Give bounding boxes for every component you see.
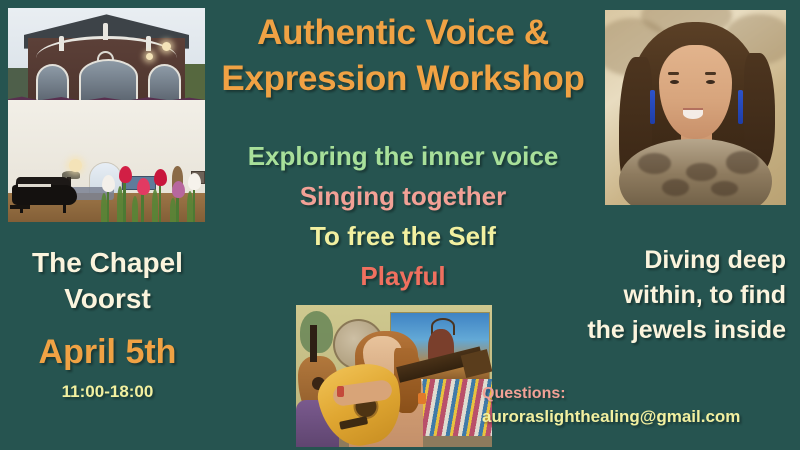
chapel-finial	[146, 36, 151, 51]
facilitator-portrait-photo	[605, 10, 786, 205]
chapel-right-window	[148, 64, 182, 104]
tulip-flowers	[95, 171, 205, 222]
subtitle-singing: Singing together	[208, 176, 598, 216]
grand-piano-leg	[63, 204, 66, 214]
tagline-line-1: Diving deep	[496, 243, 786, 278]
contact-label: Questions:	[482, 383, 782, 405]
contact-email[interactable]: auroraslighthealing@gmail.com	[482, 405, 782, 429]
title-line-2: Expression Workshop	[208, 56, 598, 102]
event-date: April 5th	[0, 327, 215, 377]
wall-guitar-neck	[310, 325, 317, 362]
portrait-smile	[683, 108, 703, 119]
guitarist-wristband	[418, 393, 426, 404]
chapel-finial	[103, 23, 108, 40]
blue-beaded-earring-right	[738, 90, 743, 124]
chapel-finial	[59, 36, 64, 51]
piano-bench	[10, 205, 30, 209]
portrait-eyebrow-left	[668, 72, 679, 75]
guitar-bridge	[339, 416, 368, 430]
tagline-line-2: within, to find	[496, 278, 786, 313]
workshop-poster: Authentic Voice & Expression Workshop Ex…	[0, 0, 800, 450]
tagline: Diving deep within, to find the jewels i…	[496, 243, 786, 348]
portrait-eyebrow-right	[705, 72, 716, 75]
venue-name-line-2: Voorst	[0, 281, 215, 317]
chapel-light-orb	[162, 42, 171, 51]
chapel-interior	[8, 100, 205, 222]
interior-pendant-lamp	[69, 159, 82, 172]
chapel-main-window	[79, 59, 138, 104]
grand-piano-body	[12, 185, 77, 205]
venue-name-line-1: The Chapel	[0, 245, 215, 281]
chapel-light-orb	[146, 53, 153, 60]
poster-title: Authentic Voice & Expression Workshop	[208, 10, 598, 102]
grand-piano-keys	[18, 184, 51, 188]
chapel-exterior-and-interior-photo	[8, 8, 205, 222]
event-time: 11:00-18:00	[0, 379, 215, 405]
venue-details: The Chapel Voorst April 5th 11:00-18:00	[0, 245, 215, 405]
title-line-1: Authentic Voice &	[208, 10, 598, 56]
guitarist-bracelet	[337, 386, 344, 397]
blue-beaded-earring-left	[650, 90, 655, 124]
subtitle-exploring: Exploring the inner voice	[208, 136, 598, 176]
tagline-line-3: the jewels inside	[496, 313, 786, 348]
chapel-trees-right	[185, 64, 205, 103]
